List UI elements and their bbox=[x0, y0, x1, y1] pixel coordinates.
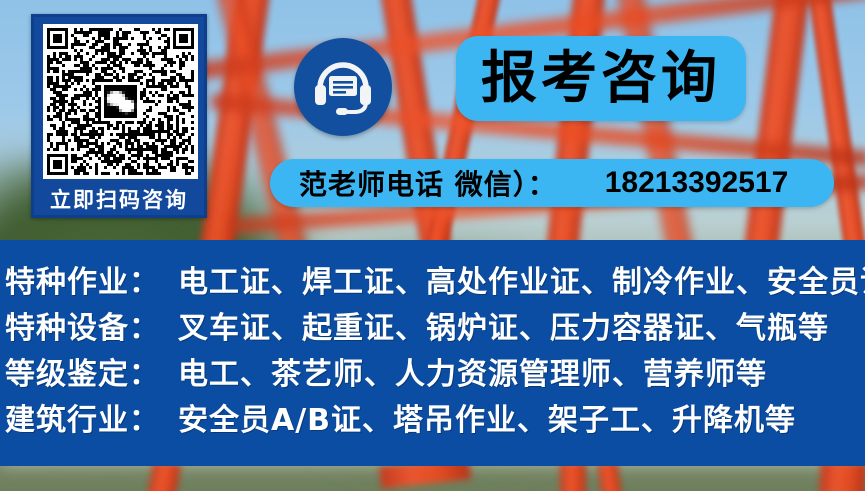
row-category-label: 等级鉴定： bbox=[5, 349, 160, 393]
row-category-label: 特种作业： bbox=[5, 257, 160, 301]
row-items-label: 安全员A/B证、塔吊作业、架子工、升降机等 bbox=[178, 395, 796, 439]
consult-cta-pill[interactable]: 报考咨询 bbox=[456, 36, 746, 121]
row-category-label: 特种设备： bbox=[5, 303, 160, 347]
crane-beam-lower bbox=[560, 462, 586, 491]
promo-banner: 立即扫码咨询 报考咨询 范老师电话 微信）： 18213392517 特种作业：… bbox=[0, 0, 865, 491]
panel-row-special-operations: 特种作业： 电工证、焊工证、高处作业证、制冷作业、安全员证等 bbox=[0, 257, 865, 301]
qr-code-canvas bbox=[47, 28, 194, 175]
qr-code-image bbox=[43, 24, 198, 179]
qr-caption: 立即扫码咨询 bbox=[34, 183, 204, 217]
contact-phone-number[interactable]: 18213392517 bbox=[605, 166, 789, 200]
row-category-label: 建筑行业： bbox=[5, 395, 160, 439]
headset-chat-icon bbox=[294, 38, 392, 136]
contact-label: 范老师电话 微信）： bbox=[299, 163, 557, 203]
panel-row-special-equipment: 特种设备： 叉车证、起重证、锅炉证、压力容器证、气瓶等 bbox=[0, 303, 829, 347]
row-items-label: 叉车证、起重证、锅炉证、压力容器证、气瓶等 bbox=[178, 303, 829, 347]
consult-cta-label: 报考咨询 bbox=[481, 51, 721, 107]
row-items-label: 电工、茶艺师、人力资源管理师、营养师等 bbox=[178, 349, 767, 393]
contact-pill[interactable]: 范老师电话 微信）： 18213392517 bbox=[270, 159, 834, 207]
qr-code-card[interactable]: 立即扫码咨询 bbox=[31, 14, 207, 218]
panel-row-construction-industry: 建筑行业： 安全员A/B证、塔吊作业、架子工、升降机等 bbox=[0, 395, 796, 439]
row-items-label: 电工证、焊工证、高处作业证、制冷作业、安全员证等 bbox=[178, 257, 865, 301]
certificate-list-panel: 特种作业： 电工证、焊工证、高处作业证、制冷作业、安全员证等 特种设备： 叉车证… bbox=[0, 240, 865, 466]
panel-row-grade-assessment: 等级鉴定： 电工、茶艺师、人力资源管理师、营养师等 bbox=[0, 349, 767, 393]
